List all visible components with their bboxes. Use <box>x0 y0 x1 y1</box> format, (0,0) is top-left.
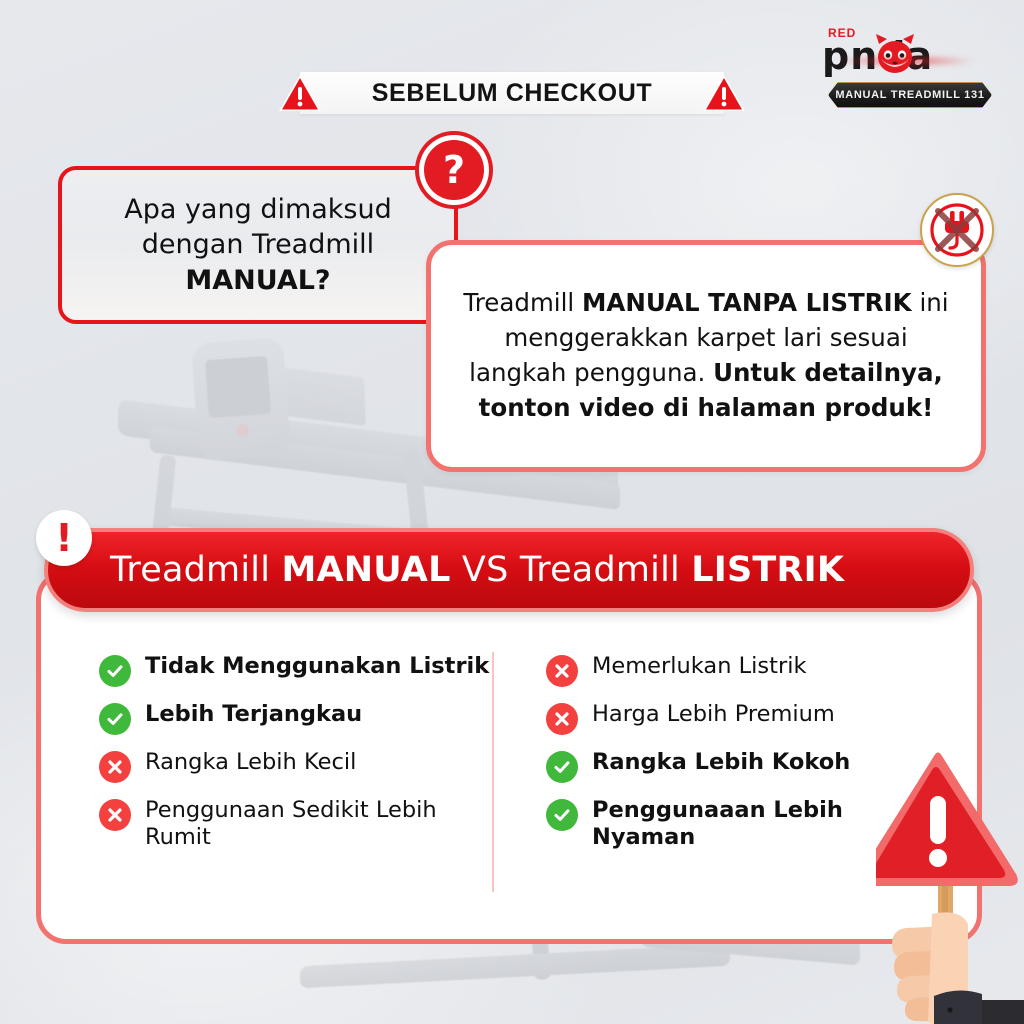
comparison-item-label: Tidak Menggunakan Listrik <box>145 653 489 680</box>
comparison-item: Memerlukan Listrik <box>546 653 949 687</box>
versus-seg-4: LISTRIK <box>691 550 844 590</box>
comparison-item-label: Rangka Lebih Kokoh <box>592 749 850 776</box>
answer-seg-2: MANUAL TANPA LISTRIK <box>582 288 912 317</box>
column-divider <box>492 652 494 892</box>
cross-circle-icon <box>99 751 131 783</box>
comparison-item: Harga Lebih Premium <box>546 701 949 735</box>
comparison-card: Tidak Menggunakan ListrikLebih Terjangka… <box>36 570 982 944</box>
versus-seg-3: VS Treadmill <box>451 550 692 590</box>
cross-circle-icon <box>99 799 131 831</box>
brand-logo: RED pnda MANUAL TREADMILL 131 <box>814 28 1006 108</box>
question-mark-icon: ? <box>443 151 465 189</box>
comparison-item-label: Harga Lebih Premium <box>592 701 835 728</box>
comparison-item-label: Memerlukan Listrik <box>592 653 806 680</box>
comparison-item-label: Lebih Terjangkau <box>145 701 362 728</box>
comparison-column-manual: Tidak Menggunakan ListrikLebih Terjangka… <box>51 653 520 943</box>
answer-seg-1: Treadmill <box>463 288 582 317</box>
product-badge: MANUAL TREADMILL 131 <box>828 82 992 108</box>
cross-circle-icon <box>546 703 578 735</box>
infographic-canvas: SEBELUM CHECKOUT RED pnda <box>0 0 1024 1024</box>
check-circle-icon <box>99 655 131 687</box>
answer-card: Treadmill MANUAL TANPA LISTRIK ini mengg… <box>426 240 986 472</box>
header-title: SEBELUM CHECKOUT <box>372 79 652 108</box>
check-circle-icon <box>99 703 131 735</box>
exclamation-icon: ! <box>55 519 72 557</box>
product-badge-label: MANUAL TREADMILL 131 <box>835 89 984 101</box>
versus-title: Treadmill MANUAL VS Treadmill LISTRIK <box>110 550 844 590</box>
comparison-item: Lebih Terjangkau <box>99 701 502 735</box>
question-text: Apa yang dimaksud dengan Treadmill MANUA… <box>124 192 392 299</box>
comparison-columns: Tidak Menggunakan ListrikLebih Terjangka… <box>41 653 977 943</box>
warning-triangle-icon <box>278 73 322 113</box>
question-card: Apa yang dimaksud dengan Treadmill MANUA… <box>58 166 458 324</box>
no-electricity-badge <box>920 193 994 267</box>
exclamation-badge: ! <box>36 510 92 566</box>
check-circle-icon <box>546 799 578 831</box>
question-line-1: Apa yang dimaksud <box>124 194 392 225</box>
no-electricity-plug-icon <box>926 199 988 261</box>
header-banner: SEBELUM CHECKOUT <box>300 72 724 114</box>
question-line-3: MANUAL? <box>185 265 330 296</box>
comparison-item: Tidak Menggunakan Listrik <box>99 653 502 687</box>
hand-holding-warning-sign-icon <box>876 748 1024 1024</box>
cross-circle-icon <box>546 655 578 687</box>
logo-badge-glow <box>836 56 976 66</box>
comparison-item-label: Rangka Lebih Kecil <box>145 749 356 776</box>
comparison-item-label: Penggunaan Sedikit Lebih Rumit <box>145 797 502 852</box>
red-panda-face-icon <box>872 32 918 78</box>
question-mark-badge: ? <box>424 140 484 200</box>
question-line-2: dengan Treadmill <box>142 229 374 260</box>
warning-triangle-icon <box>702 73 746 113</box>
answer-text: Treadmill MANUAL TANPA LISTRIK ini mengg… <box>431 286 981 425</box>
versus-seg-2: MANUAL <box>281 550 450 590</box>
versus-banner: Treadmill MANUAL VS Treadmill LISTRIK <box>44 528 974 612</box>
comparison-item: Penggunaan Sedikit Lebih Rumit <box>99 797 502 852</box>
versus-seg-1: Treadmill <box>110 550 281 590</box>
comparison-item: Rangka Lebih Kecil <box>99 749 502 783</box>
check-circle-icon <box>546 751 578 783</box>
